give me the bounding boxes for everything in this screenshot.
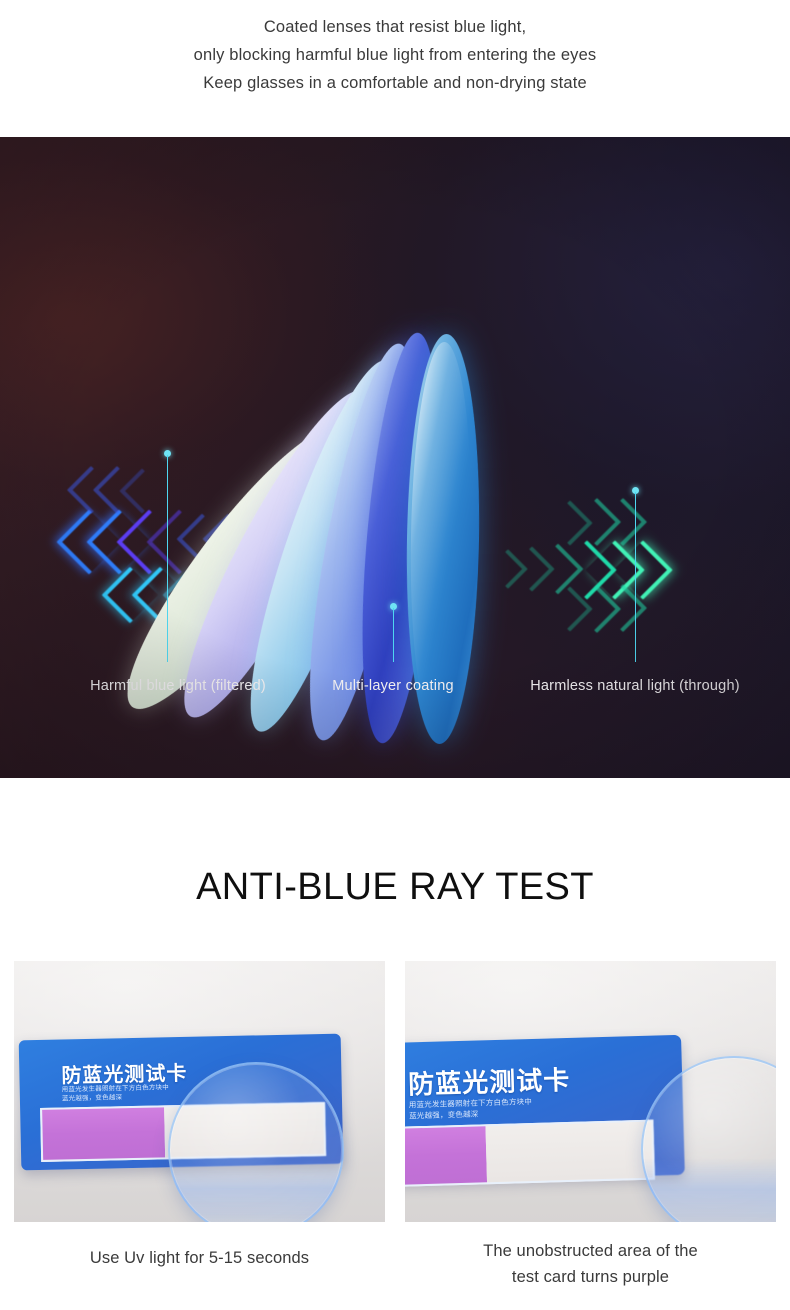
card-test-window-right [405,1120,655,1188]
passing-natural-light-beam [560,509,760,639]
photo-caption-right-line1: The unobstructed area of the [405,1238,776,1264]
card-title-right: 防蓝光测试卡 [408,1060,571,1102]
test-photo-right: 防蓝光测试卡 用蓝光发生器照射在下方白色方块中 蓝光越强，变色越深 [405,961,776,1222]
leader-line-harmful-blue-light [167,455,168,662]
section-title-anti-blue-ray-test: ANTI-BLUE RAY TEST [0,866,790,909]
hero-caption-natural-light: Harmless natural light (through) [515,678,755,694]
hero-caption-harmful-blue-light: Harmful blue light (filtered) [28,678,328,694]
card-subtitle-line2-left: 蓝光越强，变色越深 [62,1094,122,1104]
card-subtitle-line2-right: 蓝光越强，变色越深 [409,1109,479,1121]
photo-caption-right-line2: test card turns purple [405,1264,776,1290]
leader-line-multi-layer-coating [393,608,394,662]
product-detail-page: Coated lenses that resist blue light, on… [0,0,790,1310]
photo-caption-right: The unobstructed area of the test card t… [405,1238,776,1290]
card-strip-clear-right [485,1122,652,1183]
intro-text-block: Coated lenses that resist blue light, on… [0,0,790,137]
card-subtitle-line1-right: 用蓝光发生器照射在下方白色方块中 [409,1097,532,1111]
hero-banner: Harmful blue light (filtered) Multi-laye… [0,137,790,778]
hero-caption-multi-layer-coating: Multi-layer coating [293,678,493,694]
photo-caption-left: Use Uv light for 5-15 seconds [14,1245,385,1271]
card-strip-purple-right [405,1126,487,1185]
intro-line-3: Keep glasses in a comfortable and non-dr… [0,69,790,97]
photo-caption-left-line1: Use Uv light for 5-15 seconds [14,1245,385,1271]
intro-line-2: only blocking harmful blue light from en… [0,41,790,69]
leader-line-natural-light [635,492,636,662]
intro-line-1: Coated lenses that resist blue light, [0,13,790,41]
card-strip-purple-left [42,1107,165,1160]
test-photo-left: 防蓝光测试卡 用蓝光发生器照射在下方白色方块中 蓝光越强，变色越深 [14,961,385,1222]
